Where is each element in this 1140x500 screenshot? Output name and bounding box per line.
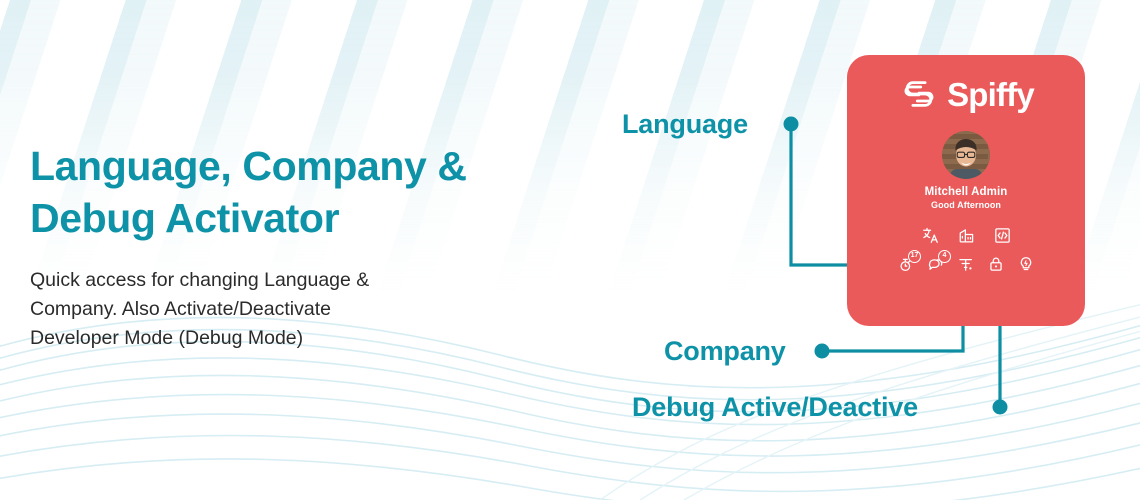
messages-badge: 4: [938, 250, 951, 263]
page-description: Quick access for changing Language & Com…: [30, 266, 470, 353]
callout-label-company: Company: [664, 336, 786, 367]
activity-indicator[interactable]: 17: [898, 256, 914, 272]
user-name: Mitchell Admin: [925, 186, 1008, 198]
callout-label-language: Language: [622, 109, 748, 140]
lock-icon[interactable]: [988, 256, 1004, 272]
spiffy-paperclip-logo-icon: [898, 73, 940, 115]
activity-badge: 17: [908, 250, 921, 263]
callout-label-debug: Debug Active/Deactive: [632, 392, 918, 423]
headline-line-1: Language, Company &: [30, 143, 467, 189]
code-debug-icon[interactable]: [994, 227, 1011, 244]
user-avatar-photo-icon: [942, 131, 990, 179]
company-building-icon[interactable]: [958, 227, 975, 244]
user-profile-card: Spiffy: [847, 55, 1085, 326]
lightbulb-icon[interactable]: [1018, 256, 1034, 272]
translate-icon[interactable]: [922, 227, 939, 244]
description-line-3: Developer Mode (Debug Mode): [30, 327, 303, 349]
connector-dot-debug: [993, 400, 1008, 415]
quick-action-icon-row: [922, 227, 1011, 244]
left-text-block: Language, Company & Debug Activator Quic…: [30, 140, 550, 353]
connector-dot-company: [815, 344, 830, 359]
page-title: Language, Company & Debug Activator: [30, 140, 550, 244]
messages-indicator[interactable]: 4: [928, 256, 944, 272]
filter-settings-icon[interactable]: [958, 256, 974, 272]
brand-name: Spiffy: [947, 78, 1034, 111]
description-line-1: Quick access for changing Language &: [30, 269, 369, 291]
avatar[interactable]: [942, 131, 990, 179]
brand-logo: Spiffy: [898, 73, 1034, 115]
description-line-2: Company. Also Activate/Deactivate: [30, 298, 331, 320]
status-icon-row: 17 4: [898, 256, 1034, 272]
user-greeting: Good Afternoon: [931, 200, 1001, 210]
connector-dot-language: [784, 117, 799, 132]
headline-line-2: Debug Activator: [30, 195, 339, 241]
banner-canvas: Language, Company & Debug Activator Quic…: [0, 0, 1140, 500]
